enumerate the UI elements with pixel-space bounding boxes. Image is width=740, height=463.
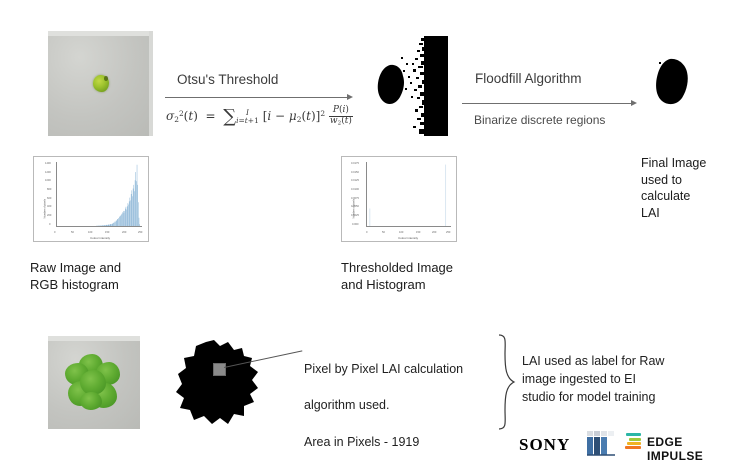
rgb-histogram-xtick-5: 250	[138, 231, 142, 234]
lettuce-raw-photo	[48, 336, 140, 429]
formula-fraction: P(i) w2(t)	[329, 106, 353, 127]
ei-bar-teal	[626, 433, 641, 436]
raw-image-caption: Raw Image and RGB histogram	[30, 259, 190, 294]
rgb-histogram-ytick-7: 1400	[45, 162, 51, 165]
lai-detail-line-3: Area in Pixels - 1919	[304, 433, 504, 451]
rgb-histogram-ytick-5: 1000	[45, 179, 51, 182]
final-image-caption: Final Image used to calculate LAI	[641, 155, 736, 222]
floodfill-arrow-head	[631, 100, 637, 106]
thresholded-image-caption: Thresholded Image and Histogram	[341, 259, 511, 294]
thresholded-histogram-xtick-3: 150	[416, 231, 420, 234]
thresholded-histogram-bars	[367, 162, 451, 226]
lettuce-leaf	[80, 392, 102, 410]
lai-detail-line-2: algorithm used.	[304, 396, 504, 414]
rgb-histogram-ytick-6: 1200	[45, 171, 51, 174]
thresholded-histogram-panel: Number of pixels Colour intensity 0 50 1…	[341, 156, 457, 242]
sony-logo: SONY	[519, 435, 570, 455]
thresholded-histogram-ytick-5: 0.0125	[351, 179, 359, 182]
rgb-histogram-ytick-3: 600	[47, 197, 51, 200]
slide-canvas: Otsu's Threshold σ22(t) = ∑ I i=t+1 [i −…	[0, 0, 740, 463]
photo-top-edge	[48, 31, 153, 36]
lettuce-binary-mask	[176, 340, 260, 426]
rgb-histogram-ytick-0: 0	[49, 223, 50, 226]
thresholded-histogram-ytick-4: 0.0100	[351, 188, 359, 191]
seedling-blob	[93, 75, 109, 92]
formula-bracket: [i − μ2(t)]2	[263, 109, 325, 123]
rgb-histogram-xtick-2: 100	[88, 231, 92, 234]
lai-calculation-details: Pixel by Pixel LAI calculation algorithm…	[304, 342, 504, 463]
thresholded-histogram-plot	[366, 162, 451, 227]
binary-noise-dots	[399, 54, 413, 94]
edge-impulse-wordmark: EDGE IMPULSE	[647, 435, 740, 463]
rgb-histogram-ytick-4: 800	[47, 188, 51, 191]
floodfill-sublabel: Binarize discrete regions	[474, 113, 605, 127]
rgb-histogram-plot	[56, 162, 142, 227]
thresholded-histogram-ytick-2: 0.0050	[351, 205, 359, 208]
formula-sum-limits: I i=t+1	[236, 109, 259, 124]
rgb-histogram-xtick-4: 200	[122, 231, 126, 234]
formula-lhs: σ22(t)	[166, 109, 198, 123]
thresholded-histogram-ytick-7: 0.0175	[351, 162, 359, 165]
lettuce-rosette	[65, 354, 120, 410]
rgb-histogram-bars	[57, 162, 142, 226]
lettuce-photo-top-edge	[48, 336, 140, 341]
seedling-shadow-spot	[104, 76, 109, 81]
lai-usage-text: LAI used as label for Raw image ingested…	[522, 352, 732, 406]
rgb-histogram-panel: Number of pixels Colour intensity 0 50 1…	[33, 156, 149, 242]
otsu-threshold-label: Otsu's Threshold	[177, 72, 278, 87]
otsu-arrow-line	[165, 97, 348, 98]
thresholded-histogram-xtick-2: 100	[399, 231, 403, 234]
thresholded-histogram-ytick-1: 0.0025	[351, 214, 359, 217]
grouping-brace	[496, 334, 516, 430]
thresholded-histogram-ytick-3: 0.0075	[351, 197, 359, 200]
thresholded-histogram-ytick-0: 0.000	[352, 223, 359, 226]
thresholded-histogram-xtick-1: 50	[382, 231, 385, 234]
ei-bar-orange	[625, 446, 641, 449]
thresholded-binary-image	[377, 36, 463, 136]
final-binary-blob	[655, 58, 691, 106]
floodfill-algorithm-label: Floodfill Algorithm	[475, 71, 582, 86]
rgb-histogram-ytick-2: 400	[47, 205, 51, 208]
edge-impulse-mark-icon	[625, 432, 642, 449]
otsu-arrow-head	[347, 94, 353, 100]
floodfill-arrow-line	[462, 103, 632, 104]
otsu-formula: σ22(t) = ∑ I i=t+1 [i − μ2(t)]2 P(i) w2(…	[166, 104, 353, 127]
thresholded-histogram-xtick-5: 250	[446, 231, 450, 234]
photo-right-edge	[149, 31, 153, 136]
thresholded-histogram-xlabel: Colour intensity	[398, 236, 418, 240]
raw-seedling-photo	[48, 31, 153, 136]
rgb-histogram-xtick-0: 0	[54, 231, 55, 234]
thresholded-histogram-xtick-0: 0	[366, 231, 367, 234]
thresholded-histogram-ytick-6: 0.0150	[351, 171, 359, 174]
lai-detail-line-1: Pixel by Pixel LAI calculation	[304, 360, 504, 378]
rgb-histogram-xtick-3: 150	[105, 231, 109, 234]
formula-equals: =	[202, 109, 220, 123]
sampled-pixel-square	[213, 363, 226, 376]
ml-badge-icon: ML	[586, 430, 616, 456]
ei-bar-green	[629, 438, 641, 441]
rgb-histogram-ytick-1: 200	[47, 214, 51, 217]
formula-sigma-sum: ∑	[223, 106, 236, 127]
thresholded-histogram-xtick-4: 200	[432, 231, 436, 234]
ei-bar-yellow	[627, 442, 641, 445]
rgb-histogram-xtick-1: 50	[71, 231, 74, 234]
rgb-histogram-xlabel: Colour intensity	[90, 236, 110, 240]
